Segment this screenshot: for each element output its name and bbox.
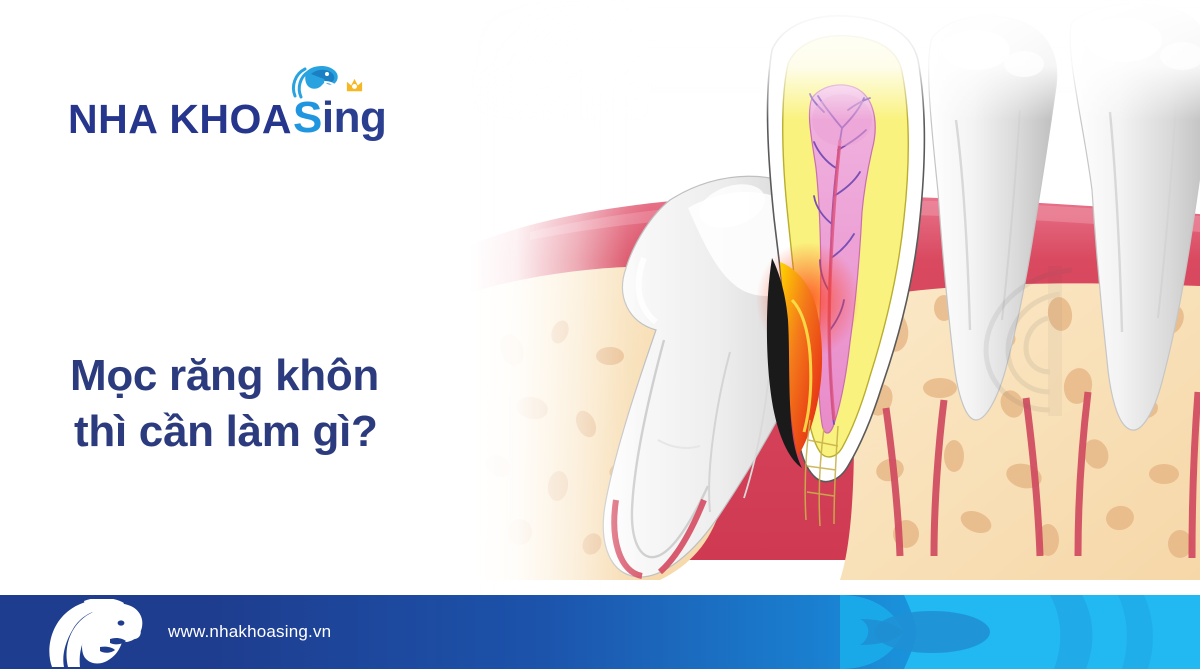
promotional-banner: NHA KHOA Sing Mọc răng kh bbox=[0, 0, 1200, 669]
headline-line-1: Mọc răng khôn bbox=[70, 348, 450, 404]
headline-line-2: thì cần làm gì? bbox=[70, 404, 450, 460]
merlion-head-icon bbox=[48, 599, 148, 669]
headline: Mọc răng khôn thì cần làm gì? bbox=[70, 348, 450, 461]
crown-icon bbox=[345, 76, 364, 95]
brand-logo[interactable]: NHA KHOA Sing bbox=[68, 78, 386, 140]
merlion-head-icon bbox=[289, 62, 341, 102]
logo-word-nha: NHA bbox=[68, 99, 158, 140]
footer-bar: www.nhakhoasing.vn bbox=[0, 595, 1200, 669]
footer-website-url[interactable]: www.nhakhoasing.vn bbox=[168, 622, 331, 642]
logo-word-khoa: KHOA bbox=[169, 99, 292, 140]
wave-decoration bbox=[800, 595, 1200, 669]
dental-illustration bbox=[420, 0, 1200, 600]
